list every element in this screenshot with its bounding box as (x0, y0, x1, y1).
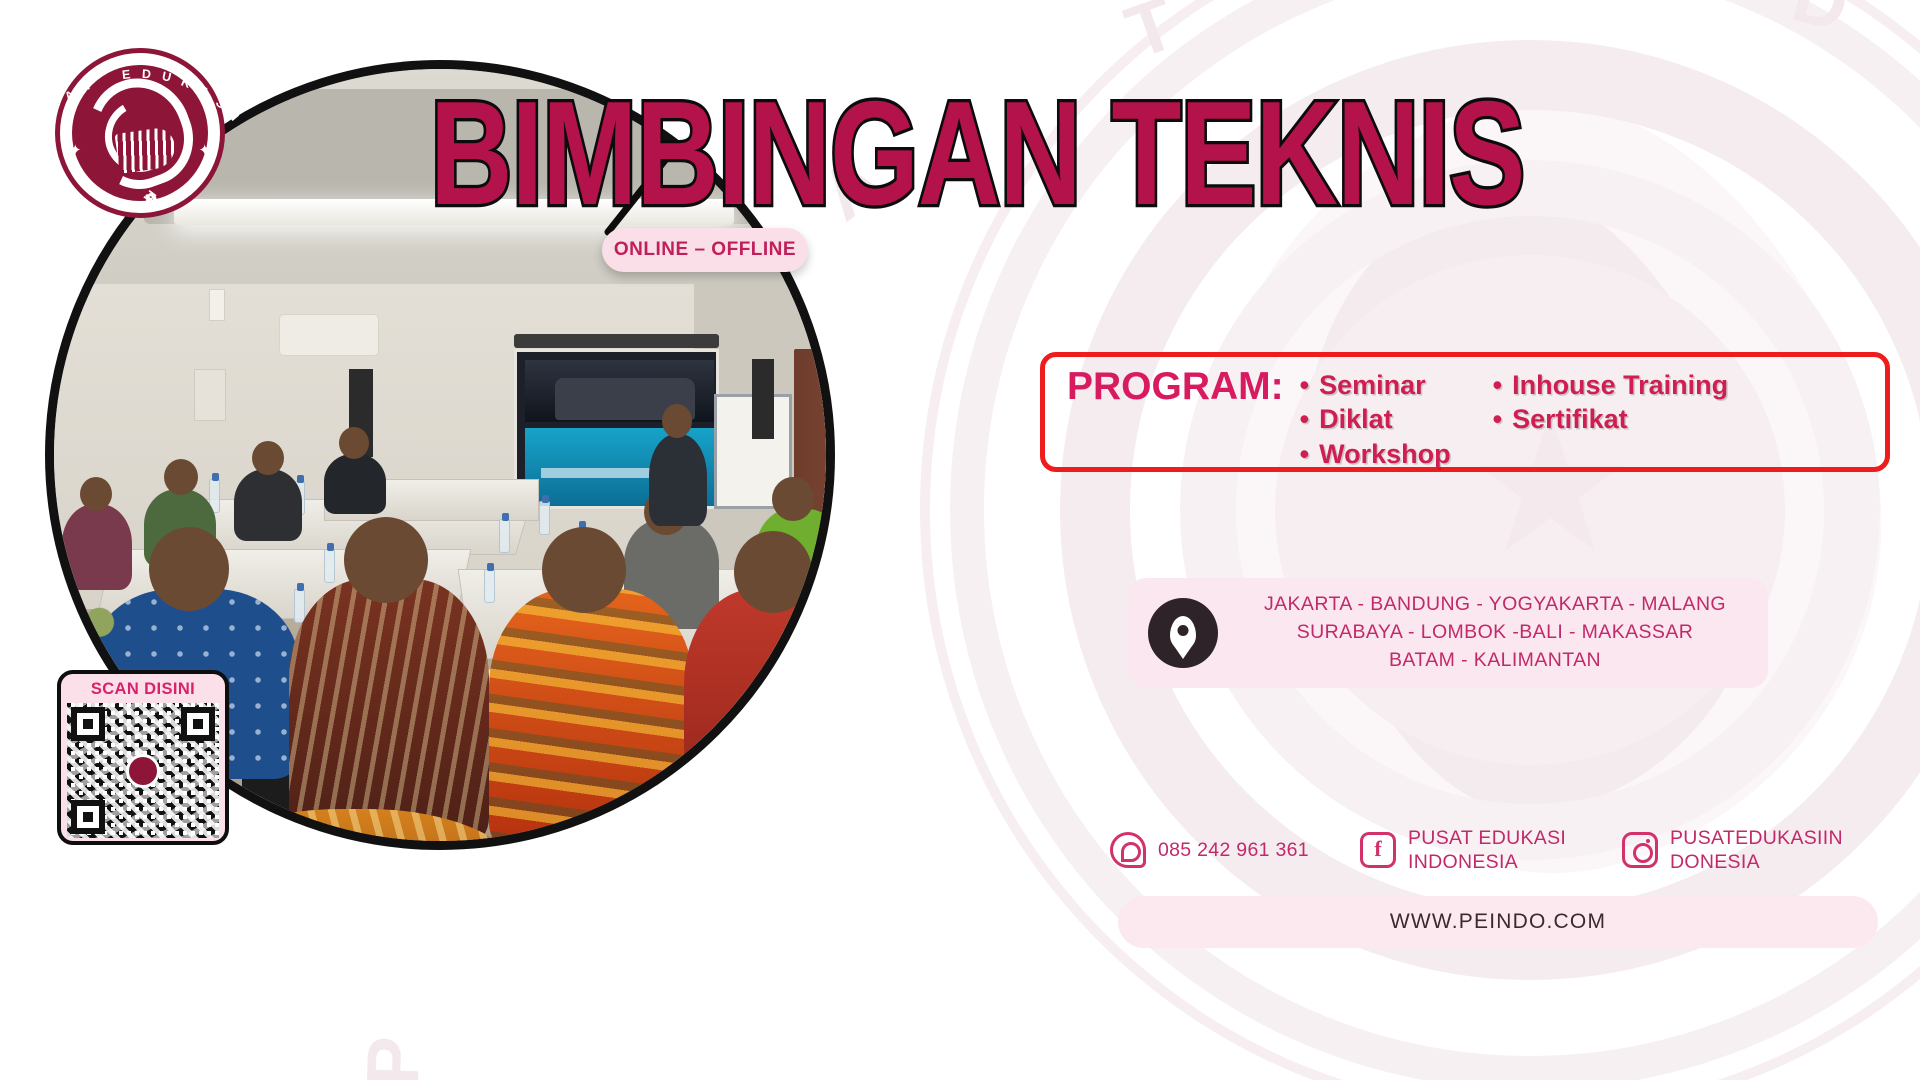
wall-panel (194, 369, 226, 421)
brand-logo: ✦ ✦ PUSAT EDUKASI INDONESIA (55, 48, 225, 218)
whatsapp-text: 085 242 961 361 (1158, 838, 1309, 862)
presenter (649, 434, 707, 526)
attendee (234, 469, 302, 541)
contact-instagram[interactable]: PUSATEDUKASIIN DONESIA (1622, 826, 1882, 875)
website-bar[interactable]: WWW.PEINDO.COM (1118, 896, 1878, 948)
attendee (62, 504, 132, 590)
page-title: BIMBINGAN TEKNIS (430, 68, 1562, 238)
attendee-head (164, 459, 198, 495)
qr-finder-top-left (71, 707, 105, 741)
attendee-head (344, 517, 428, 603)
contact-whatsapp[interactable]: 085 242 961 361 (1110, 832, 1360, 868)
program-label: PROGRAM: (1067, 365, 1284, 410)
program-item: Sertifikat (1493, 402, 1728, 436)
program-item: Diklat (1300, 402, 1451, 436)
facebook-text: PUSAT EDUKASI INDONESIA (1408, 826, 1566, 875)
program-item: Seminar (1300, 368, 1451, 402)
instagram-text: PUSATEDUKASIIN DONESIA (1670, 826, 1843, 875)
program-columns: Seminar Diklat Workshop Inhouse Training… (1300, 365, 1728, 471)
qr-title: SCAN DISINI (67, 680, 219, 699)
contact-facebook[interactable]: f PUSAT EDUKASI INDONESIA (1360, 826, 1622, 875)
instagram-line1: PUSATEDUKASIIN (1670, 826, 1843, 850)
locations-text: JAKARTA - BANDUNG - YOGYAKARTA - MALANG … (1240, 591, 1768, 674)
badge-online-offline-label: ONLINE – OFFLINE (614, 239, 796, 261)
website-url: WWW.PEINDO.COM (1390, 910, 1606, 934)
program-column-right: Inhouse Training Sertifikat (1493, 368, 1728, 471)
location-line: BATAM - KALIMANTAN (1240, 647, 1750, 675)
speaker-right (752, 359, 774, 439)
watermark-ring-4 (1180, 160, 1880, 860)
qr-center-logo (126, 754, 160, 788)
water-bottle (324, 549, 335, 583)
attendee-red-shirt (684, 589, 835, 839)
attendee (324, 454, 386, 514)
badge-online-offline: ONLINE – OFFLINE (602, 228, 808, 272)
attendee-head (772, 477, 814, 521)
water-bottle (484, 569, 495, 603)
qr-code-image (67, 703, 219, 838)
water-bottle (294, 589, 305, 623)
attendee-head (149, 527, 229, 611)
location-pin-icon (1148, 598, 1218, 668)
water-bottle (499, 519, 510, 553)
program-box: PROGRAM: Seminar Diklat Workshop Inhouse… (1040, 352, 1890, 472)
attendee-head (339, 427, 369, 459)
presenter-head (662, 404, 692, 438)
pin-shape (1170, 616, 1196, 650)
whatsapp-number: 085 242 961 361 (1158, 838, 1309, 862)
facebook-line2: INDONESIA (1408, 850, 1566, 874)
wall-switch (209, 289, 225, 321)
brown-batik-pattern (289, 579, 489, 844)
attendee-head (80, 477, 112, 511)
watermark-core (1275, 255, 1785, 765)
facebook-icon: f (1360, 832, 1396, 868)
watermark-swoosh-2 (1250, 151, 1809, 849)
locations-box: JAKARTA - BANDUNG - YOGYAKARTA - MALANG … (1128, 578, 1768, 688)
attendee-head (542, 527, 626, 613)
location-line: JAKARTA - BANDUNG - YOGYAKARTA - MALANG (1240, 591, 1750, 619)
orange-batik-pattern (489, 589, 694, 849)
program-item: Workshop (1300, 437, 1451, 471)
water-bottle (539, 501, 550, 535)
air-conditioner (279, 314, 379, 356)
whatsapp-icon (1110, 832, 1146, 868)
projector-screen-top (514, 334, 719, 348)
program-item: Inhouse Training (1493, 368, 1728, 402)
qr-finder-bottom-left (71, 800, 105, 834)
instagram-icon (1622, 832, 1658, 868)
facebook-line1: PUSAT EDUKASI (1408, 826, 1566, 850)
qr-card[interactable]: SCAN DISINI (57, 670, 229, 845)
location-line: SURABAYA - LOMBOK -BALI - MAKASSAR (1240, 619, 1750, 647)
attendee-head (252, 441, 284, 475)
logo-arc-bottom-text: INDONESIA (55, 48, 225, 218)
contacts-row: 085 242 961 361 f PUSAT EDUKASI INDONESI… (1110, 818, 1900, 882)
slide-caption (541, 468, 661, 478)
instagram-line2: DONESIA (1670, 850, 1843, 874)
qr-finder-top-right (181, 707, 215, 741)
attendee-head (734, 531, 812, 613)
program-column-left: Seminar Diklat Workshop (1300, 368, 1451, 471)
